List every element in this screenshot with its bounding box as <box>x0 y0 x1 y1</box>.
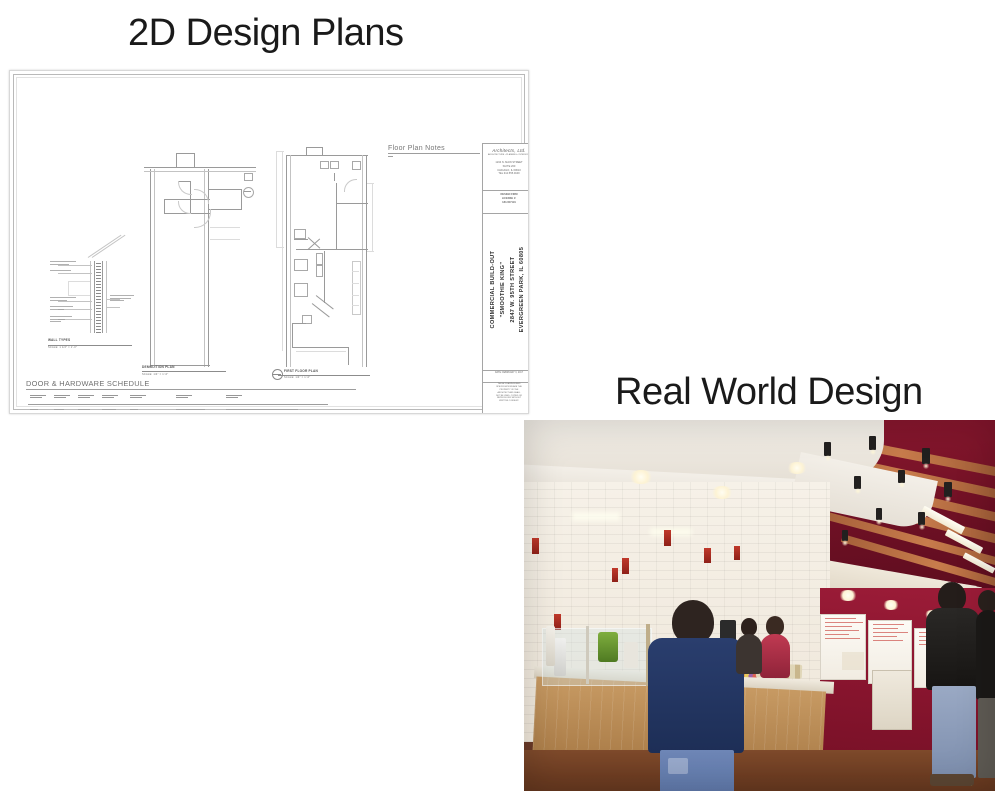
red-accent-tile <box>612 568 618 582</box>
schedule-cell <box>54 409 70 412</box>
person-torso <box>976 610 995 700</box>
pendant-light <box>944 482 952 497</box>
menu-board <box>820 614 866 680</box>
pendant-light <box>842 530 848 541</box>
pendant-light <box>922 448 930 464</box>
recessed-downlight <box>710 486 734 499</box>
door-and-frame-elevations: Door and Frame SCALE: 1/2" = 1'-0" <box>366 401 484 414</box>
person-pocket <box>668 758 688 774</box>
schedule-column-header <box>30 395 50 400</box>
pendant-light <box>824 442 831 456</box>
wall-types-detail: WALL TYPES SCALE: 1 1/2" = 1'-0" <box>46 257 138 353</box>
wall-types-label: WALL TYPES <box>48 338 70 342</box>
recessed-downlight <box>628 470 654 484</box>
firm-subtitle: ARCHITECTURE • PLANNING • INTERIORS <box>483 154 529 157</box>
schedule-cell <box>30 409 46 412</box>
blueprint-sheet[interactable]: DEMOLITION PLAN SCALE: 1/4" = 1'-0" <box>9 70 529 414</box>
red-accent-tile <box>704 548 711 563</box>
person-shoe <box>930 774 974 786</box>
person-torso <box>926 608 980 690</box>
firm-logo-cell: Architects, Ltd. ARCHITECTURE • PLANNING… <box>483 144 529 191</box>
project-line-4: EVERGREEN PARK, IL 60805 <box>520 247 526 333</box>
schedule-cell <box>176 409 220 412</box>
person-head <box>766 616 784 636</box>
staff-second <box>736 618 762 674</box>
person-torso <box>760 634 790 678</box>
equipment-dispenser <box>624 642 638 668</box>
title-block[interactable]: Architects, Ltd. ARCHITECTURE • PLANNING… <box>482 143 529 414</box>
pendant-light <box>918 512 925 525</box>
glass-post <box>586 626 589 684</box>
person-torso <box>648 638 744 753</box>
schedule-cell <box>130 409 146 412</box>
recessed-downlight <box>786 462 808 474</box>
design-firm-license: DESIGN FIRM LICENSE #: 184.007191 <box>483 193 529 204</box>
schedule-column-header <box>102 395 122 400</box>
schedule-cell <box>226 409 318 412</box>
cup-stack <box>546 626 555 666</box>
firm-logo: Architects, Ltd. <box>483 144 529 153</box>
pendant-light <box>854 476 861 489</box>
project-name-cell: COMMERCIAL BUILD-OUT "SMOOTHIE KING" 284… <box>483 210 529 371</box>
floor-plan-notes-panel: Floor Plan Notes <box>388 145 480 375</box>
page-title-2d-design-plans: 2D Design Plans <box>128 12 404 55</box>
issue-date: DATE: FEBRUARY 3, 2017 <box>483 372 529 375</box>
schedule-column-header <box>54 395 74 400</box>
project-line-2: "SMOOTHIE KING" <box>500 262 506 318</box>
project-line-3: 2847 W. 95TH STREET <box>510 257 516 323</box>
pendant-light <box>898 470 905 483</box>
first-floor-plan-label: FIRST FLOOR PLAN <box>284 369 318 373</box>
red-accent-tile <box>664 530 671 546</box>
wall-light-wash <box>650 528 692 536</box>
schedule-cell <box>78 409 94 412</box>
back-door-opening <box>872 670 912 730</box>
real-world-design-photo[interactable] <box>524 420 995 791</box>
wall-light-wash <box>572 512 620 521</box>
schedule-column-header <box>78 395 98 400</box>
person-legs <box>932 686 976 778</box>
first-floor-plan-drawing: FIRST FLOOR PLAN SCALE: 1/4" = 1'-0" <box>272 143 390 379</box>
schedule-header-rule <box>28 404 328 405</box>
person-legs <box>978 698 995 778</box>
staff-behind-counter <box>760 616 790 678</box>
demolition-plan-label: DEMOLITION PLAN <box>142 365 175 369</box>
pendant-light <box>869 436 876 450</box>
customer-navy-shirt <box>642 600 748 791</box>
firm-address: 1234 N. MAIN STREET SUITE 200 CHICAGO, I… <box>483 161 529 176</box>
recessed-downlight <box>838 590 858 601</box>
schedule-title-rule <box>26 389 356 390</box>
schedule-title: DOOR & HARDWARE SCHEDULE <box>26 379 356 388</box>
wall-types-scale: SCALE: 1 1/2" = 1'-0" <box>48 346 77 349</box>
equipment-dispenser <box>554 638 566 676</box>
note-number <box>388 156 393 157</box>
door-hardware-schedule: DOOR & HARDWARE SCHEDULE <box>26 379 356 414</box>
customer-black-shirt <box>924 582 982 791</box>
copyright-note-cell: THESE DRAWINGS AND SPECIFICATIONS ARE TH… <box>483 380 529 414</box>
pendant-light <box>876 508 882 520</box>
floor-plan-notes-title: Floor Plan Notes <box>388 145 480 152</box>
copyright-note: THESE DRAWINGS AND SPECIFICATIONS ARE TH… <box>483 383 529 403</box>
project-line-1: COMMERCIAL BUILD-OUT <box>490 251 496 329</box>
customer-far-right <box>976 590 995 790</box>
person-torso <box>736 634 762 674</box>
schedule-column-header <box>226 395 246 400</box>
demolition-plan-scale: SCALE: 1/4" = 1'-0" <box>142 373 168 376</box>
person-head <box>978 590 995 612</box>
notes-title-rule <box>388 153 480 154</box>
red-accent-tile <box>622 558 629 574</box>
demolition-plan-drawing: DEMOLITION PLAN SCALE: 1/4" = 1'-0" <box>128 143 268 373</box>
recessed-downlight <box>882 600 900 610</box>
red-accent-tile <box>734 546 740 560</box>
page-title-real-world-design: Real World Design <box>615 371 923 414</box>
schedule-column-header <box>130 395 150 400</box>
blender-equipment <box>598 632 618 662</box>
schedule-column-header <box>176 395 196 400</box>
wall-sign-logo <box>842 652 864 670</box>
schedule-cell <box>102 409 118 412</box>
red-accent-tile <box>532 538 539 554</box>
